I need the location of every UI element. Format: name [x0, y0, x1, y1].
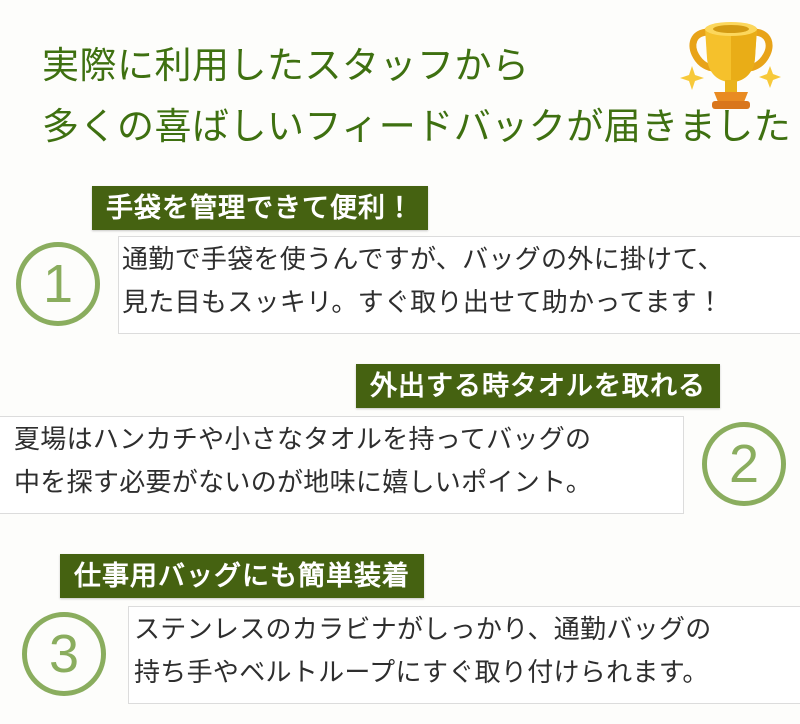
testimonial-number-3: 3 — [22, 612, 106, 696]
feedback-graphic: 実際に利用したスタッフから 多くの喜ばしいフィードバックが届きました — [0, 0, 800, 724]
testimonial-body-1-line-2: 見た目もスッキリ。すぐ取り出せて助かってます！ — [122, 281, 724, 324]
testimonial-body-3-line-2: 持ち手やベルトループにすぐ取り付けられます。 — [134, 651, 712, 694]
trophy-icon — [676, 16, 786, 112]
testimonial-block-2: 外出する時タオルを取れる 夏場はハンカチや小さなタオルを持ってバッグの 中を探す… — [0, 360, 800, 530]
header-title-line-1: 実際に利用したスタッフから — [42, 35, 530, 89]
testimonial-body-2-line-1: 夏場はハンカチや小さなタオルを持ってバッグの — [14, 418, 592, 461]
testimonial-block-1: 1 手袋を管理できて便利！ 通勤で手袋を使うんですが、バッグの外に掛けて、 見た… — [0, 180, 800, 350]
testimonial-block-3: 3 仕事用バッグにも簡単装着 ステンレスのカラビナがしっかり、通勤バッグの 持ち… — [0, 548, 800, 724]
testimonial-body-3: ステンレスのカラビナがしっかり、通勤バッグの 持ち手やベルトループにすぐ取り付け… — [134, 608, 712, 694]
testimonial-body-2: 夏場はハンカチや小さなタオルを持ってバッグの 中を探す必要がないのが地味に嬉しい… — [14, 418, 592, 504]
testimonial-body-2-line-2: 中を探す必要がないのが地味に嬉しいポイント。 — [14, 461, 592, 504]
testimonial-body-1: 通勤で手袋を使うんですが、バッグの外に掛けて、 見た目もスッキリ。すぐ取り出せて… — [122, 238, 724, 324]
testimonial-number-1: 1 — [16, 242, 100, 326]
testimonial-banner-3: 仕事用バッグにも簡単装着 — [60, 554, 424, 598]
header: 実際に利用したスタッフから 多くの喜ばしいフィードバックが届きました — [0, 0, 800, 160]
testimonial-number-2: 2 — [702, 422, 786, 506]
testimonial-body-3-line-1: ステンレスのカラビナがしっかり、通勤バッグの — [134, 608, 712, 651]
testimonial-banner-2: 外出する時タオルを取れる — [356, 364, 720, 408]
testimonial-body-1-line-1: 通勤で手袋を使うんですが、バッグの外に掛けて、 — [122, 238, 724, 281]
testimonial-banner-1: 手袋を管理できて便利！ — [92, 186, 428, 230]
